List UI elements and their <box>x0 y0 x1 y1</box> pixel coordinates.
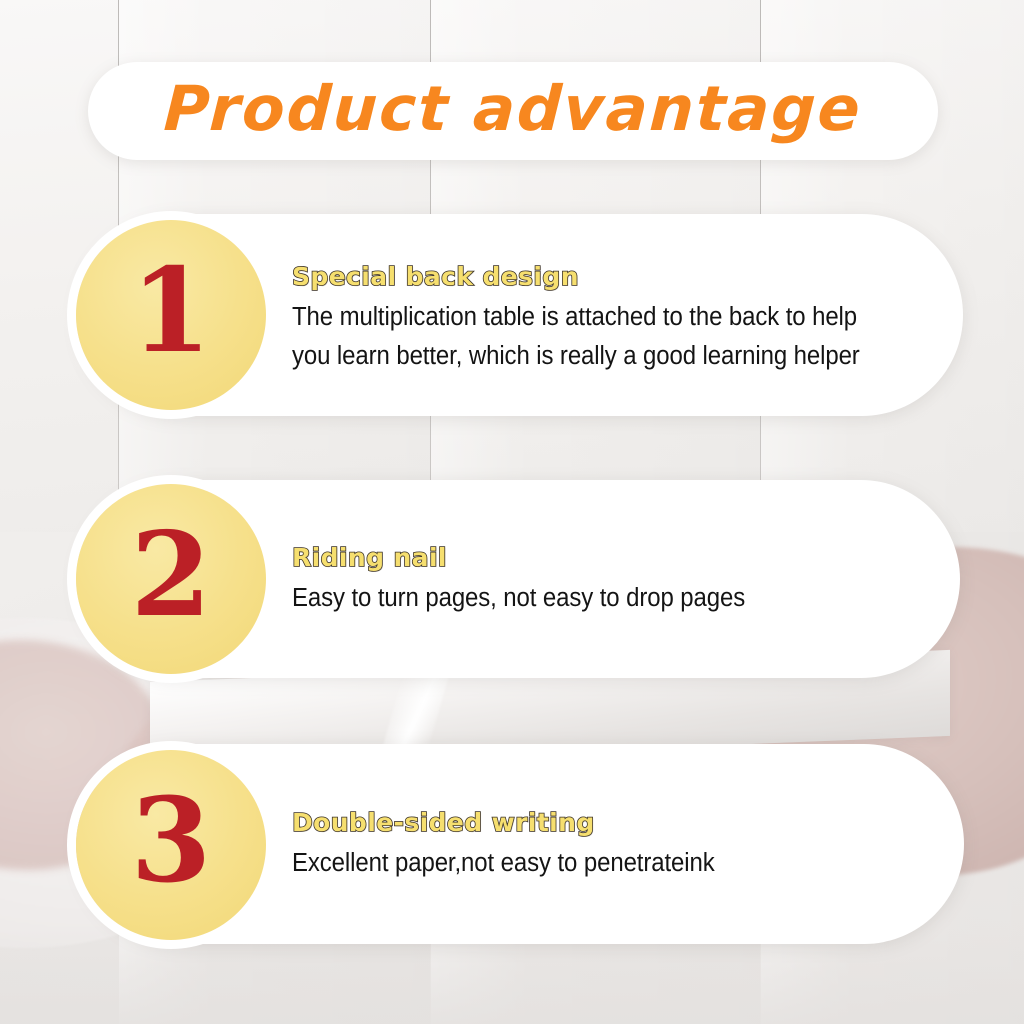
feature-body-3: Excellent paper,not easy to penetrateink <box>292 844 899 883</box>
feature-card-2: 2 Riding nail Easy to turn pages, not ea… <box>78 480 960 678</box>
feature-heading-2: Riding nail <box>292 544 934 572</box>
feature-heading-3: Double-sided writing <box>292 809 938 837</box>
feature-number-1: 1 <box>131 253 212 369</box>
product-advantage-poster: Product advantage 1 Special back design … <box>0 0 1024 1024</box>
feature-card-1: 1 Special back design The multiplication… <box>78 214 963 416</box>
feature-content-1: Special back design The multiplication t… <box>292 214 937 420</box>
feature-content-2: Riding nail Easy to turn pages, not easy… <box>292 480 934 680</box>
page-title: Product advantage <box>162 78 863 144</box>
feature-number-badge-1: 1 <box>76 220 266 410</box>
feature-card-3: 3 Double-sided writing Excellent paper,n… <box>78 744 964 944</box>
feature-number-2: 2 <box>131 517 212 633</box>
feature-content-3: Double-sided writing Excellent paper,not… <box>292 744 938 946</box>
title-banner: Product advantage <box>88 62 938 160</box>
feature-body-2: Easy to turn pages, not easy to drop pag… <box>292 579 895 618</box>
feature-number-badge-3: 3 <box>76 750 266 940</box>
feature-number-3: 3 <box>131 783 212 899</box>
feature-heading-1: Special back design <box>292 263 937 291</box>
feature-body-1: The multiplication table is attached to … <box>292 298 898 376</box>
feature-number-badge-2: 2 <box>76 484 266 674</box>
